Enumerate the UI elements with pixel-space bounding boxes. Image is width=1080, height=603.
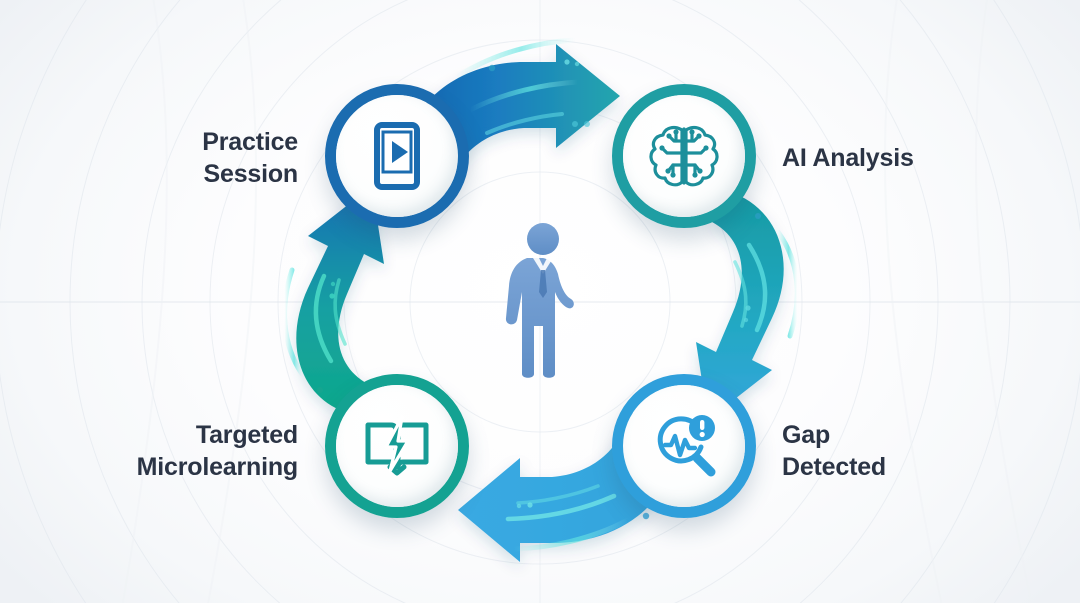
label-ai-analysis: AI Analysis — [782, 142, 914, 174]
node-gap-detected[interactable] — [612, 374, 756, 518]
label-targeted-microlearning: Targeted Microlearning — [137, 419, 298, 483]
label-practice-session: Practice Session — [202, 126, 298, 190]
circuit-brain-icon — [643, 115, 725, 197]
node-practice-session[interactable] — [325, 84, 469, 228]
center-person-icon — [500, 222, 586, 380]
open-book-lightning-icon — [356, 405, 438, 487]
magnifier-pulse-alert-icon — [643, 405, 725, 487]
tablet-play-video-icon — [356, 115, 438, 197]
diagram-canvas: Practice Session — [0, 0, 1080, 603]
node-ai-analysis[interactable] — [612, 84, 756, 228]
label-gap-detected: Gap Detected — [782, 419, 886, 483]
node-targeted-microlearning[interactable] — [325, 374, 469, 518]
